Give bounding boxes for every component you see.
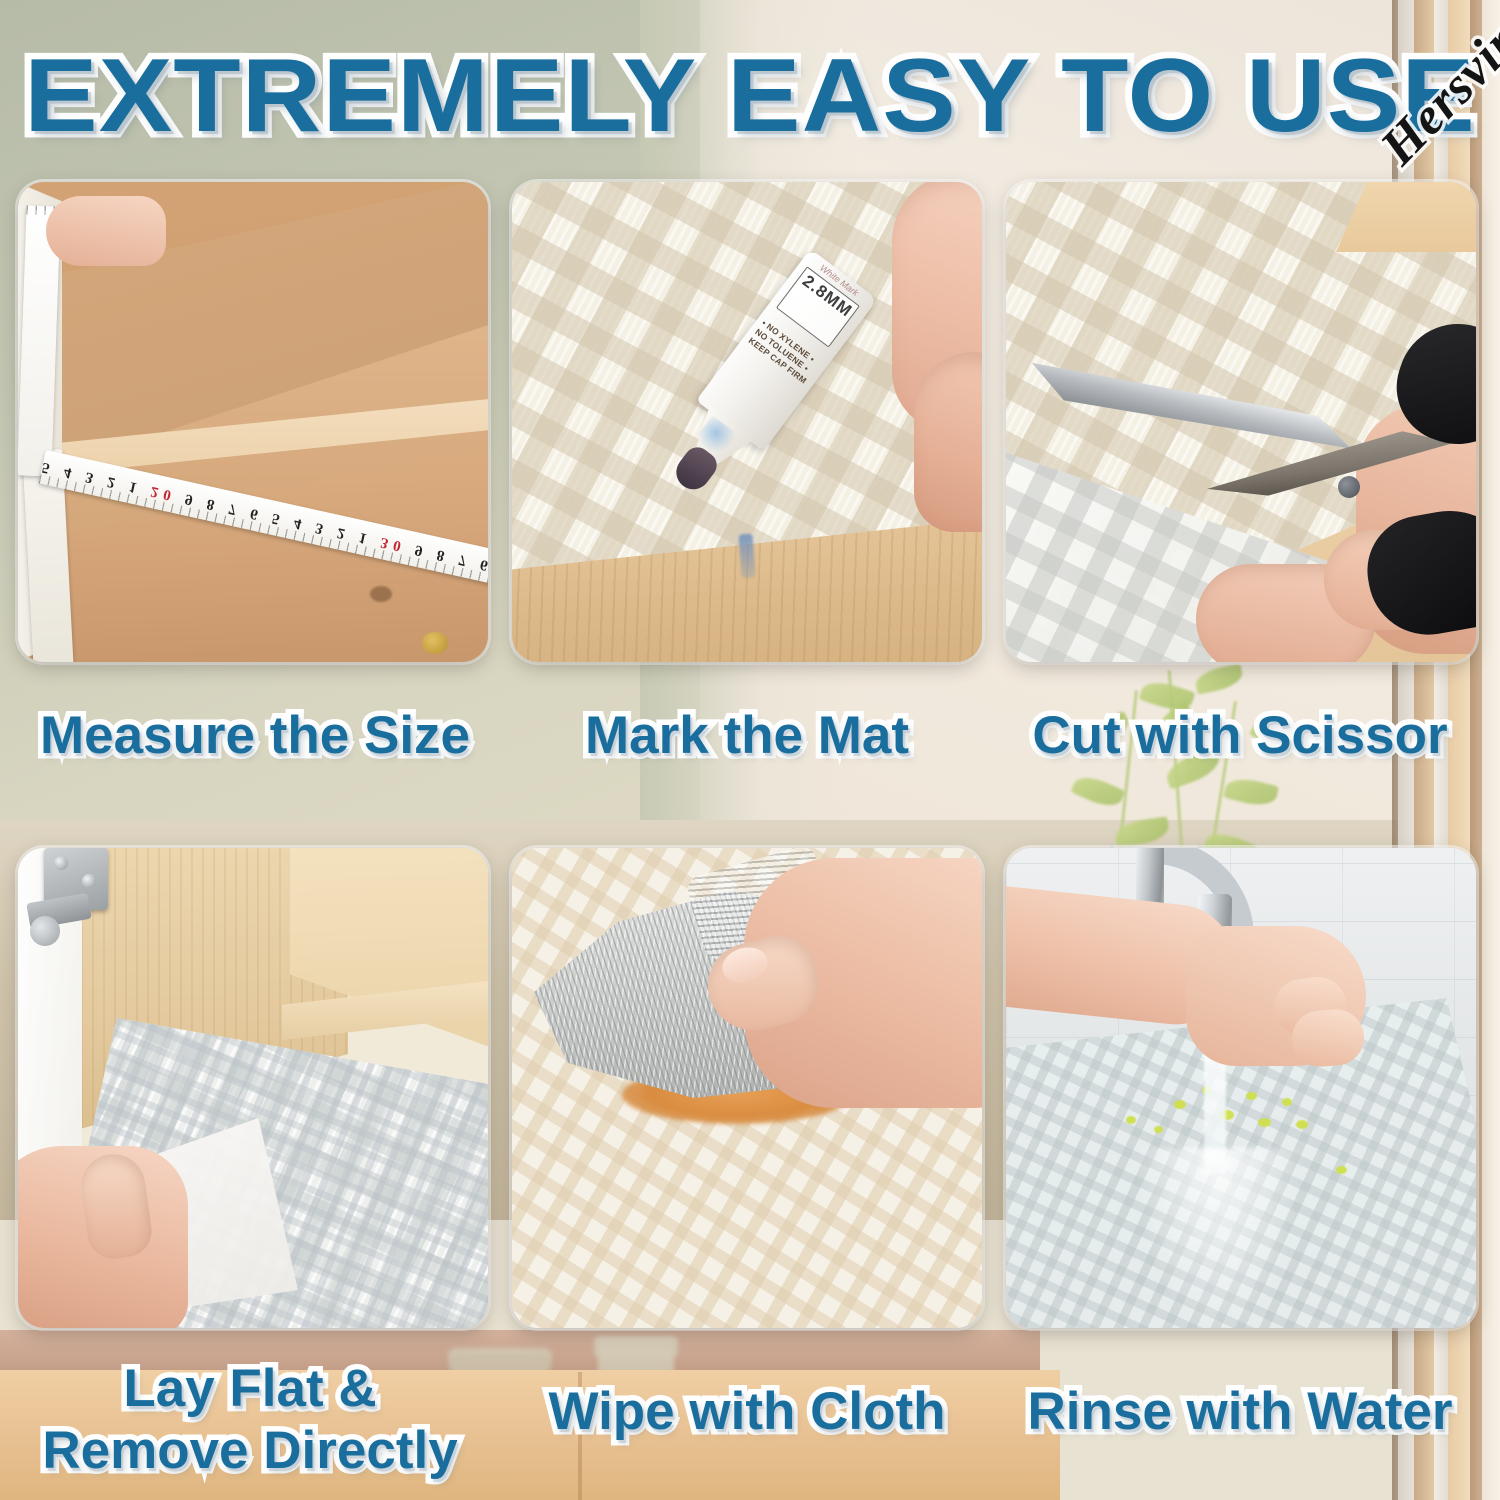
finger bbox=[914, 352, 982, 532]
infographic-canvas: 9 8 7 6 5 4 3 2 1 10 9 8 7 6 5 4 3 2 1 2… bbox=[0, 0, 1500, 1500]
step-photo-6-rinse bbox=[1006, 848, 1476, 1328]
step-photo-4-lay-flat bbox=[18, 848, 488, 1328]
step-caption-4-line2: Remove Directly bbox=[10, 1420, 490, 1482]
step-caption-2: Mark the Mat bbox=[512, 706, 982, 766]
step-caption-5: Wipe with Cloth bbox=[512, 1382, 982, 1442]
scissor-pivot-screw bbox=[1338, 476, 1360, 498]
water-splash bbox=[1134, 1148, 1304, 1328]
step-caption-4-line1: Lay Flat & bbox=[10, 1358, 490, 1420]
ink-mark bbox=[738, 534, 755, 579]
hand-holding-tape bbox=[46, 196, 166, 266]
shelf-screw bbox=[422, 632, 448, 654]
step-caption-4: Lay Flat & Remove Directly bbox=[10, 1358, 490, 1482]
page-title: EXTREMELY EASY TO USE bbox=[0, 44, 1500, 148]
step-photo-2-mark: White Mark 2.8MM • NO XYLENE • NO TOLUEN… bbox=[512, 182, 982, 662]
step-caption-1: Measure the Size bbox=[20, 706, 490, 766]
step-photo-5-wipe bbox=[512, 848, 982, 1328]
step-photo-3-cut bbox=[1006, 182, 1476, 662]
step-caption-6: Rinse with Water bbox=[1000, 1382, 1480, 1442]
step-caption-3: Cut with Scissor bbox=[1000, 706, 1480, 766]
step-photo-1-measure: 9 8 7 6 5 4 3 2 1 10 9 8 7 6 5 4 3 2 1 2… bbox=[18, 182, 488, 662]
cabinet-hinge-cup bbox=[30, 916, 60, 946]
